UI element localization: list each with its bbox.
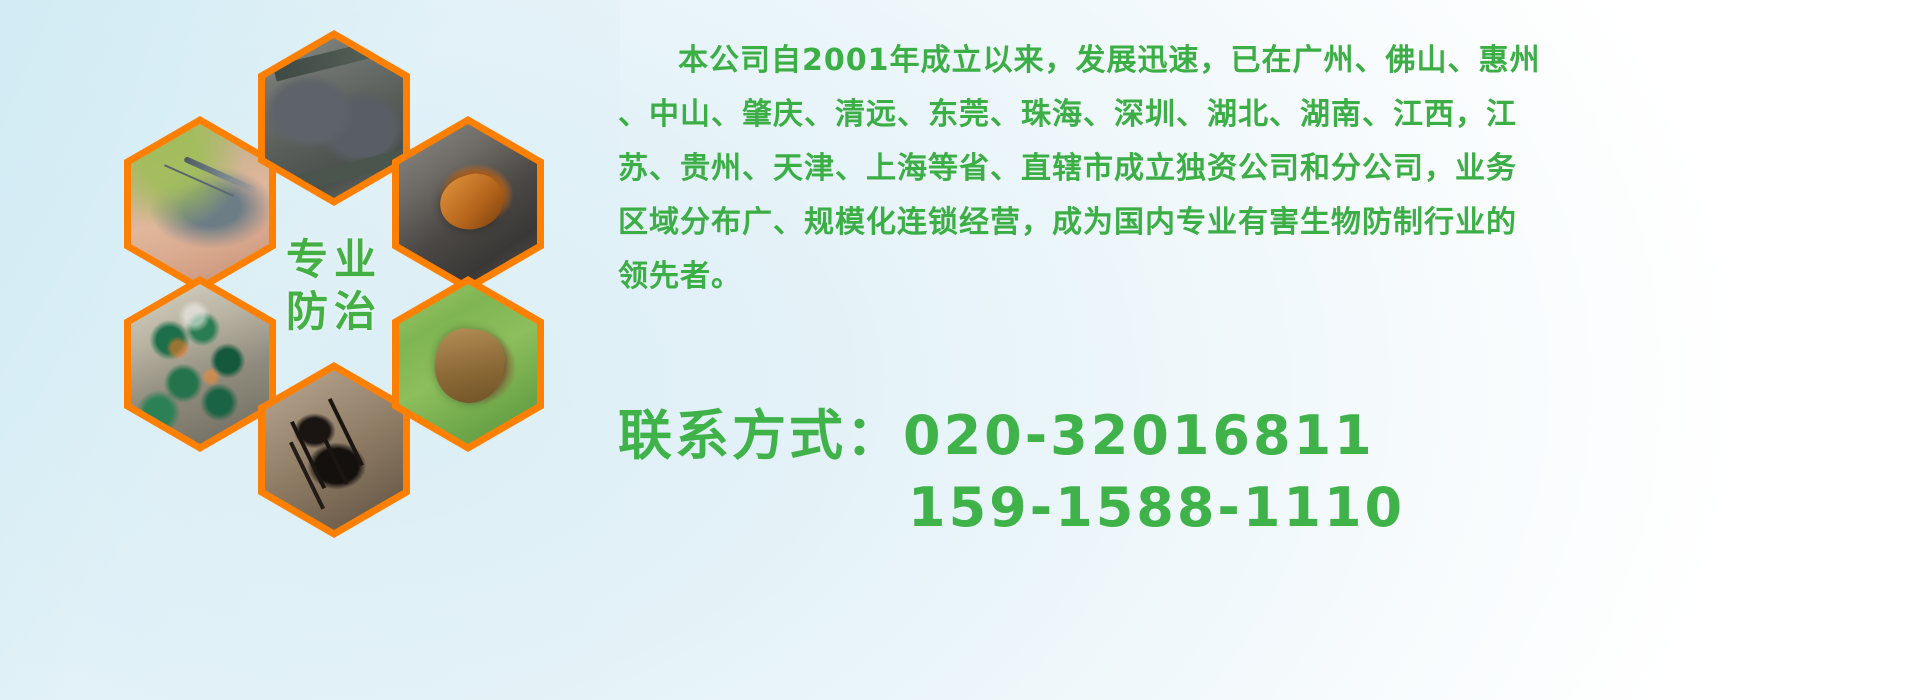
cockroach-photo-frame xyxy=(399,124,537,284)
honeycomb-photo-cluster: 专业 防治 xyxy=(90,8,590,563)
stinkbug-image xyxy=(399,284,537,444)
mosquito-photo xyxy=(124,116,276,292)
mosquito-image xyxy=(131,124,269,284)
intro-line-2: 、中山、肇庆、清远、东莞、珠海、深圳、湖北、湖南、江西，江 xyxy=(618,88,1918,142)
contact-phone-primary[interactable]: 联系方式：020-32016811 xyxy=(618,400,1918,472)
company-intro-paragraph: 本公司自2001年成立以来，发展迅速，已在广州、佛山、惠州 、中山、肇庆、清远、… xyxy=(618,34,1918,304)
mosquito-photo-frame xyxy=(131,124,269,284)
contact-phone-secondary[interactable]: 159-1588-1110 xyxy=(618,472,1918,544)
rats-image xyxy=(265,38,403,198)
cockroach-photo xyxy=(392,116,544,292)
cockroach-image xyxy=(399,124,537,284)
brand-slogan-line2: 防治 xyxy=(286,286,382,339)
intro-line-4: 区域分布广、规模化连锁经营，成为国内专业有害生物防制行业的 xyxy=(618,196,1918,250)
intro-line-5: 领先者。 xyxy=(618,250,1918,304)
ant-photo xyxy=(258,362,410,538)
promo-banner: 专业 防治 本公司自2001年成立以来，发展迅速，已在广州、佛山、惠州 、中山、… xyxy=(0,0,1920,700)
ant-image xyxy=(265,370,403,530)
ant-photo-frame xyxy=(265,370,403,530)
rats-photo xyxy=(258,30,410,206)
flies-photo-frame xyxy=(131,284,269,444)
flies-image xyxy=(131,284,269,444)
intro-line-1: 本公司自2001年成立以来，发展迅速，已在广州、佛山、惠州 xyxy=(618,34,1918,88)
contact-block: 联系方式：020-32016811 159-1588-1110 xyxy=(618,400,1918,544)
intro-line-3: 苏、贵州、天津、上海等省、直辖市成立独资公司和分公司，业务 xyxy=(618,142,1918,196)
stinkbug-photo xyxy=(392,276,544,452)
brand-slogan-line1: 专业 xyxy=(286,234,382,287)
rats-photo-frame xyxy=(265,38,403,198)
stinkbug-photo-frame xyxy=(399,284,537,444)
flies-photo xyxy=(124,276,276,452)
brand-slogan: 专业 防治 xyxy=(258,198,410,374)
